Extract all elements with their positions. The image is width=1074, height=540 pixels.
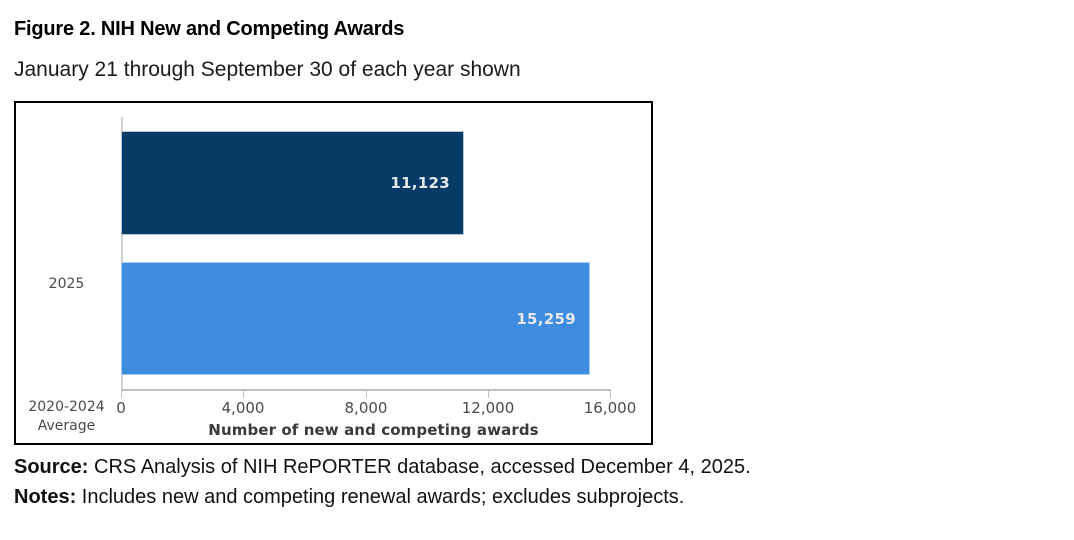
x-axis-tick-8000 — [366, 391, 367, 398]
bar-2025[interactable]: 11,123 — [122, 132, 463, 234]
bar-value-label-average: 15,259 — [516, 310, 576, 328]
bar-value-label-2025: 11,123 — [390, 174, 450, 192]
footnotes: Source: CRS Analysis of NIH RePORTER dat… — [14, 452, 1064, 512]
x-axis-tick-0 — [121, 391, 122, 398]
source-text: CRS Analysis of NIH RePORTER database, a… — [88, 456, 750, 478]
x-axis-tick-16000 — [610, 391, 611, 398]
bar-chart-plot-area: 11,123 15,259 2025 2020-2024 Average 0 4… — [16, 103, 651, 443]
source-label: Source: — [14, 456, 88, 478]
x-axis-title: Number of new and competing awards — [16, 421, 651, 439]
x-tick-label-0: 0 — [81, 399, 161, 417]
notes-label: Notes: — [14, 486, 76, 508]
figure-title: Figure 2. NIH New and Competing Awards — [14, 17, 404, 41]
x-axis-tick-12000 — [488, 391, 489, 398]
x-tick-label-16000: 16,000 — [570, 399, 650, 417]
category-label-2025: 2025 — [16, 275, 117, 294]
notes-line: Notes: Includes new and competing renewa… — [14, 482, 1064, 512]
source-line: Source: CRS Analysis of NIH RePORTER dat… — [14, 452, 1064, 482]
bar-2020-2024-average[interactable]: 15,259 — [122, 263, 589, 374]
figure-subtitle: January 21 through September 30 of each … — [14, 57, 521, 82]
notes-text: Includes new and competing renewal award… — [76, 486, 684, 508]
x-tick-label-4000: 4,000 — [203, 399, 283, 417]
chart-frame: 11,123 15,259 2025 2020-2024 Average 0 4… — [14, 101, 653, 445]
x-tick-label-8000: 8,000 — [326, 399, 406, 417]
x-axis-tick-4000 — [243, 391, 244, 398]
x-tick-label-12000: 12,000 — [448, 399, 528, 417]
